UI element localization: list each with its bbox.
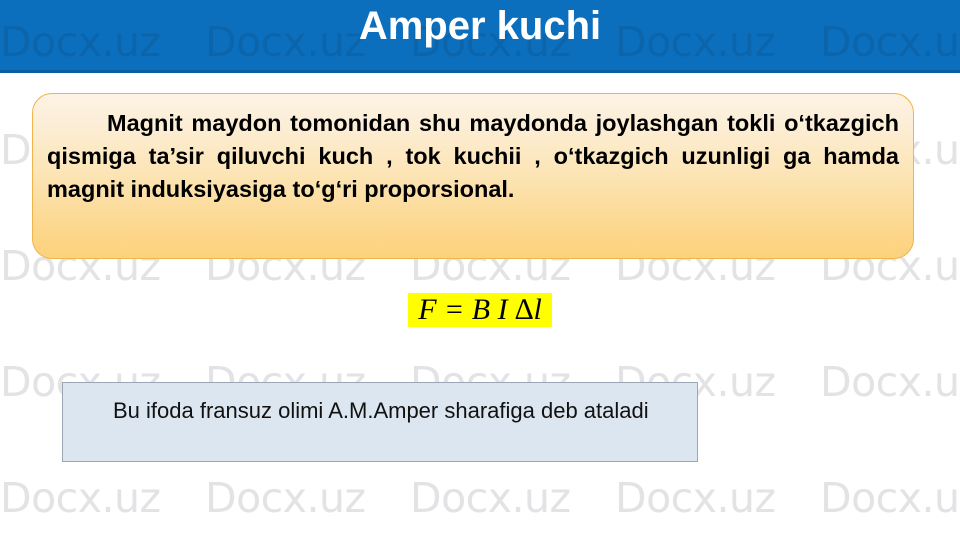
watermark-text: Docx.uz [820,362,960,403]
formula-container: F = B I ∆l [0,293,960,327]
watermark-row: Docx.uzDocx.uzDocx.uzDocx.uzDocx.uz [0,478,960,519]
watermark-text: Docx.uz [0,478,205,519]
watermark-text: Docx.uz [615,478,820,519]
watermark-text: Docx.uz [820,478,960,519]
definition-box: Magnit maydon tomonidan shu maydonda joy… [32,93,914,259]
note-text: Bu ifoda fransuz olimi A.M.Amper sharafi… [63,383,697,426]
definition-text: Magnit maydon tomonidan shu maydonda joy… [33,94,913,206]
watermark-text: Docx.uz [205,478,410,519]
slide-canvas: Docx.uzDocx.uzDocx.uzDocx.uzDocx.uz Docx… [0,0,960,540]
ampere-force-formula: F = B I ∆l [408,293,552,327]
watermark-text: Docx.uz [410,478,615,519]
page-title: Amper kuchi [0,4,960,49]
note-box: Bu ifoda fransuz olimi A.M.Amper sharafi… [62,382,698,462]
